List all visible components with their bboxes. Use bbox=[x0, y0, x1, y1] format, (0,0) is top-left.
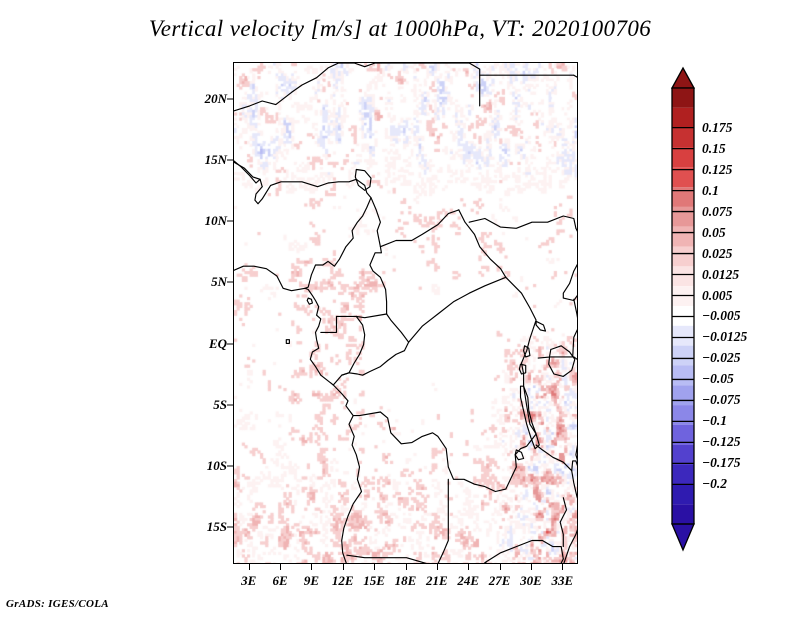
map-boundary-line bbox=[515, 450, 523, 460]
colorbar-tick-label: −0.2 bbox=[702, 476, 727, 492]
colorbar-bottom-arrow bbox=[672, 524, 694, 550]
colorbar-tick-label: 0.0125 bbox=[702, 267, 739, 283]
colorbar-tick-label: −0.0125 bbox=[702, 329, 747, 345]
y-tick-label: 5N bbox=[211, 274, 227, 290]
x-tick-mark bbox=[406, 564, 407, 570]
x-tick-mark bbox=[531, 564, 532, 570]
colorbar-tick-label: 0.125 bbox=[702, 162, 732, 178]
map-boundary-line bbox=[485, 563, 490, 564]
map-boundary-line bbox=[485, 541, 563, 563]
x-tick-mark bbox=[468, 564, 469, 570]
colorbar-tick-label: 0.1 bbox=[702, 183, 719, 199]
colorbar-tick-label: 0.005 bbox=[702, 288, 732, 304]
map-boundary-line bbox=[574, 75, 578, 198]
map-boundary-line bbox=[234, 266, 362, 564]
x-tick-mark bbox=[437, 564, 438, 570]
colorbar-top-arrow bbox=[672, 68, 694, 88]
map-boundary-line bbox=[321, 316, 337, 332]
map-boundary-line bbox=[459, 210, 506, 277]
x-tick-label: 12E bbox=[332, 573, 354, 589]
y-tick-mark bbox=[227, 98, 233, 99]
map-boundary-line bbox=[337, 314, 387, 318]
map-boundary-line bbox=[353, 412, 516, 492]
map-boundary-line bbox=[538, 357, 578, 402]
y-tick-mark bbox=[227, 159, 233, 160]
colorbar-segment bbox=[672, 247, 694, 267]
y-tick-label: EQ bbox=[209, 336, 227, 352]
colorbar-segment bbox=[672, 385, 694, 405]
y-tick-mark bbox=[227, 221, 233, 222]
map-boundary-line bbox=[339, 63, 382, 67]
map-boundary-line bbox=[438, 479, 448, 564]
y-tick-mark bbox=[227, 282, 233, 283]
x-tick-mark bbox=[562, 564, 563, 570]
colorbar-segment bbox=[672, 266, 694, 286]
y-tick-label: 5S bbox=[213, 397, 227, 413]
x-tick-label: 9E bbox=[304, 573, 319, 589]
colorbar-tick-label: −0.075 bbox=[702, 392, 741, 408]
colorbar-segment bbox=[672, 365, 694, 385]
colorbar-segment bbox=[672, 147, 694, 167]
colorbar-tick-label: 0.025 bbox=[702, 246, 732, 262]
colorbar-tick-label: −0.005 bbox=[702, 308, 741, 324]
map-boundary-line bbox=[573, 299, 578, 357]
colorbar-tick-label: −0.125 bbox=[702, 434, 741, 450]
x-tick-mark bbox=[374, 564, 375, 570]
y-tick-label: 10N bbox=[205, 213, 227, 229]
x-tick-mark bbox=[280, 564, 281, 570]
y-tick-mark bbox=[227, 343, 233, 344]
x-tick-label: 24E bbox=[457, 573, 479, 589]
map-boundary-line bbox=[409, 277, 506, 342]
x-tick-label: 3E bbox=[241, 573, 256, 589]
y-tick-label: 20N bbox=[205, 91, 227, 107]
x-tick-mark bbox=[500, 564, 501, 570]
x-tick-label: 30E bbox=[520, 573, 542, 589]
map-boundary-line bbox=[536, 445, 572, 471]
map-boundary-line bbox=[563, 228, 578, 300]
y-tick-mark bbox=[227, 466, 233, 467]
map-boundary-line bbox=[572, 461, 578, 520]
x-tick-label: 21E bbox=[426, 573, 448, 589]
y-tick-label: 15N bbox=[205, 152, 227, 168]
map-boundary-line bbox=[536, 321, 545, 331]
y-tick-mark bbox=[227, 404, 233, 405]
map-boundary-line bbox=[549, 346, 575, 377]
coastline-and-borders-overlay bbox=[234, 63, 578, 564]
colorbar-segment bbox=[672, 207, 694, 227]
map-boundary-line bbox=[286, 340, 289, 344]
map-boundary-line bbox=[469, 63, 480, 106]
colorbar-tick-label: 0.075 bbox=[702, 204, 732, 220]
map-boundary-line bbox=[370, 198, 387, 314]
map-boundary-line bbox=[560, 498, 566, 547]
x-tick-label: 33E bbox=[551, 573, 573, 589]
colorbar-tick-label: −0.175 bbox=[702, 455, 741, 471]
colorbar-segment bbox=[672, 346, 694, 366]
colorbar-segment bbox=[672, 465, 694, 485]
colorbar-tick-label: 0.175 bbox=[702, 120, 732, 136]
map-boundary-line bbox=[307, 298, 312, 304]
y-tick-label: 15S bbox=[207, 519, 227, 535]
colorbar-segment bbox=[672, 88, 694, 108]
colorbar-segment bbox=[672, 227, 694, 247]
map-boundary-line bbox=[521, 386, 540, 449]
y-tick-label: 10S bbox=[207, 458, 227, 474]
colorbar-segment bbox=[672, 128, 694, 148]
colorbar-segment bbox=[672, 326, 694, 346]
page-title: Vertical velocity [m/s] at 1000hPa, VT: … bbox=[0, 16, 800, 42]
colorbar-segment bbox=[672, 504, 694, 524]
x-tick-mark bbox=[249, 564, 250, 570]
x-tick-label: 6E bbox=[272, 573, 287, 589]
map-plot-area: 20N15N10N5NEQ5S10S15S 3E6E9E12E15E18E21E… bbox=[233, 62, 578, 564]
colorbar-tick-label: 0.05 bbox=[702, 225, 726, 241]
grads-credit: GrADS: IGES/COLA bbox=[6, 598, 109, 610]
colorbar: 0.1750.150.1250.10.0750.050.0250.01250.0… bbox=[668, 62, 800, 562]
map-boundary-line bbox=[347, 555, 438, 564]
colorbar-tick-label: 0.15 bbox=[702, 141, 726, 157]
y-tick-mark bbox=[227, 527, 233, 528]
map-boundary-line bbox=[342, 314, 409, 375]
colorbar-tick-label: −0.1 bbox=[702, 413, 727, 429]
grads-figure: Vertical velocity [m/s] at 1000hPa, VT: … bbox=[0, 0, 800, 618]
map-boundary-line bbox=[234, 63, 339, 111]
x-tick-label: 18E bbox=[395, 573, 417, 589]
colorbar-tick-label: −0.05 bbox=[702, 371, 734, 387]
x-tick-mark bbox=[343, 564, 344, 570]
x-tick-mark bbox=[311, 564, 312, 570]
colorbar-tick-label: −0.025 bbox=[702, 350, 741, 366]
map-frame bbox=[233, 62, 578, 564]
colorbar-segment bbox=[672, 484, 694, 504]
colorbar-segment bbox=[672, 445, 694, 465]
x-tick-label: 27E bbox=[489, 573, 511, 589]
map-boundary-line bbox=[255, 179, 356, 204]
map-boundary-line bbox=[380, 210, 458, 247]
colorbar-segment bbox=[672, 108, 694, 128]
map-boundary-line bbox=[305, 179, 371, 288]
map-boundary-line bbox=[469, 216, 576, 228]
x-tick-label: 15E bbox=[363, 573, 385, 589]
